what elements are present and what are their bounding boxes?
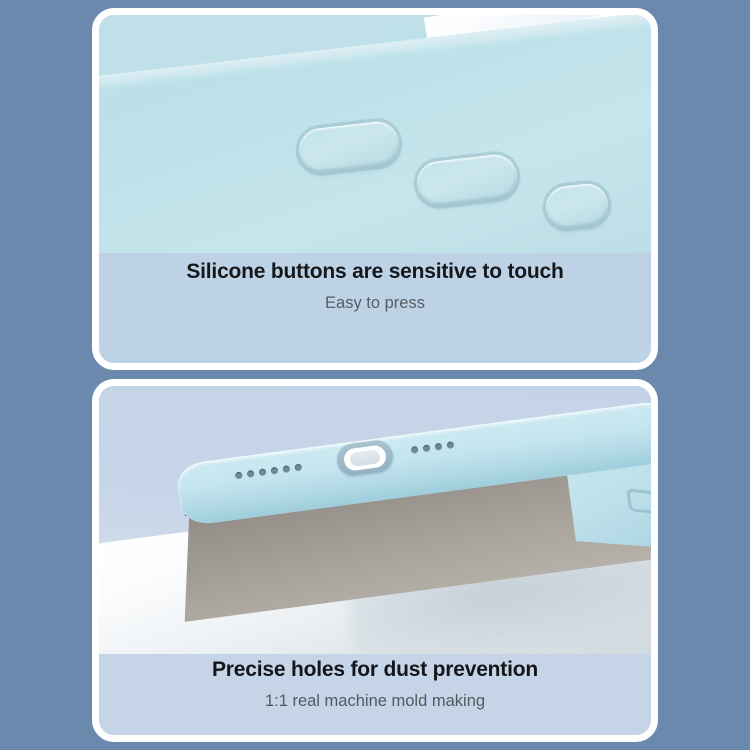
panel-subtitle: Easy to press xyxy=(99,294,651,312)
panel-title: Precise holes for dust prevention xyxy=(99,658,651,681)
caption-precise-holes: Precise holes for dust prevention 1:1 re… xyxy=(99,658,651,710)
product-photo-precise-holes xyxy=(99,386,651,654)
case-top-edge xyxy=(99,15,651,102)
product-photo-silicone-buttons xyxy=(99,15,651,253)
panel-title: Silicone buttons are sensitive to touch xyxy=(99,260,651,283)
feature-panel-precise-holes: Precise holes for dust prevention 1:1 re… xyxy=(92,379,658,742)
product-feature-image: Silicone buttons are sensitive to touch … xyxy=(0,0,750,750)
feature-panel-silicone-buttons: Silicone buttons are sensitive to touch … xyxy=(92,8,658,370)
panel-subtitle: 1:1 real machine mold making xyxy=(99,692,651,710)
caption-silicone-buttons: Silicone buttons are sensitive to touch … xyxy=(99,260,651,312)
